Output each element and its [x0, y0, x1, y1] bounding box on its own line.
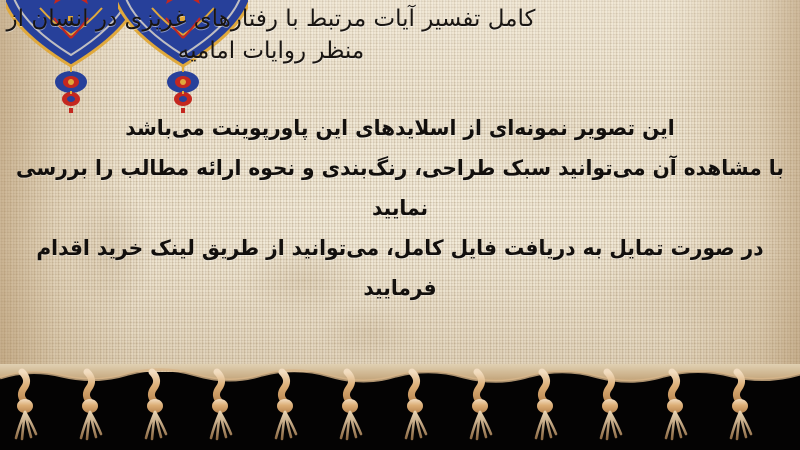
body-line-2: با مشاهده آن می‌توانید سبک طراحی، رنگ‌بن…: [16, 148, 784, 228]
title-line-1: کامل تفسیر آیات مرتبط با رفتارهای غریزی …: [0, 2, 542, 36]
body-line-3: در صورت تمایل به دریافت فایل کامل، می‌تو…: [16, 228, 784, 308]
slide-body: این تصویر نمونه‌ای از اسلایدهای این پاور…: [0, 108, 800, 308]
slide-title: کامل تفسیر آیات مرتبط با رفتارهای غریزی …: [0, 2, 792, 68]
body-line-1: این تصویر نمونه‌ای از اسلایدهای این پاور…: [16, 108, 784, 148]
slide-canvas: کامل تفسیر آیات مرتبط با رفتارهای غریزی …: [0, 0, 800, 450]
title-line-2: منظر روایات امامیه: [0, 34, 542, 68]
carpet-fringe-band: [0, 364, 800, 450]
